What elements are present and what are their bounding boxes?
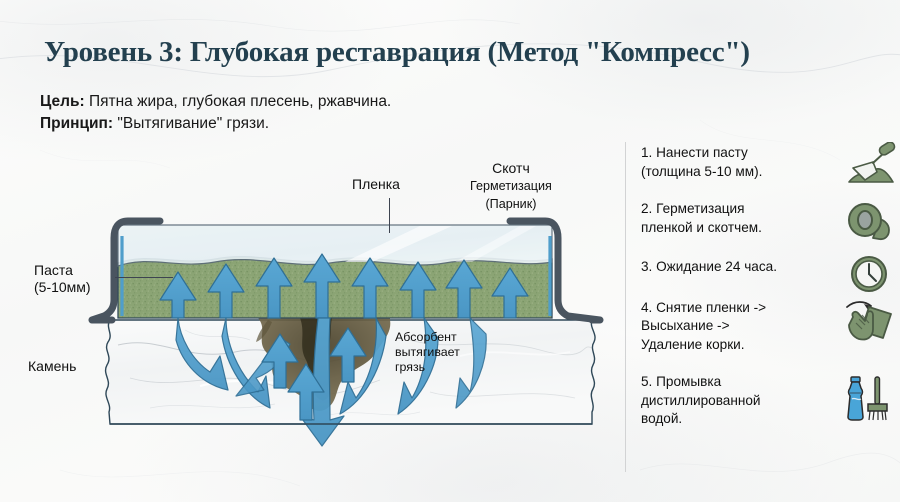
leader-line-film: [389, 198, 390, 233]
bottle-brush-icon: [843, 375, 899, 423]
label-tape-sub1: Герметизация: [470, 179, 552, 193]
step-2-text: 2. Герметизация пленкой и скотчем.: [641, 200, 826, 237]
tape-roll-icon: [843, 198, 899, 246]
compress-method-diagram: [0, 0, 640, 502]
step-1-text: 1. Нанести пасту (толщина 5-10 мм).: [641, 144, 826, 181]
label-paste: Паста (5-10мм): [34, 262, 91, 296]
step-item-3: 3. Ожидание 24 часа.: [641, 258, 891, 277]
label-paste-main: Паста: [34, 262, 73, 278]
label-tape-sub2: (Парник): [485, 197, 536, 211]
step-5-text: 5. Промывка дистиллированной водой.: [641, 373, 826, 429]
label-tape: Скотч Герметизация (Парник): [470, 160, 552, 213]
step-item-5: 5. Промывка дистиллированной водой.: [641, 373, 891, 429]
panel-divider: [625, 142, 626, 472]
label-absorbent-line2: вытягивает: [395, 345, 460, 359]
step-item-1: 1. Нанести пасту (толщина 5-10 мм).: [641, 144, 891, 181]
label-absorbent-line1: Абсорбент: [395, 330, 457, 344]
trowel-paste-icon: [843, 142, 899, 190]
label-paste-sub: (5-10мм): [34, 279, 91, 295]
hand-peel-icon: [843, 297, 899, 345]
water-bottle-icon: [848, 377, 863, 420]
step-3-text: 3. Ожидание 24 часа.: [641, 258, 826, 277]
label-film: Пленка: [352, 176, 400, 193]
step-item-2: 2. Герметизация пленкой и скотчем.: [641, 200, 891, 237]
label-absorbent-line3: грязь: [395, 360, 425, 374]
film-layer: [118, 225, 552, 266]
clock-icon: [843, 248, 899, 296]
steps-panel: 1. Нанести пасту (толщина 5-10 мм). 2. Г…: [641, 144, 891, 441]
step-4-text: 4. Снятие пленки -> Высыхание -> Удалени…: [641, 299, 826, 355]
label-tape-main: Скотч: [492, 160, 530, 176]
label-stone: Камень: [28, 358, 76, 375]
scrub-brush-icon: [868, 377, 887, 420]
label-absorbent: Абсорбент вытягивает грязь: [395, 330, 460, 375]
step-item-4: 4. Снятие пленки -> Высыхание -> Удалени…: [641, 299, 891, 355]
leader-line-paste: [115, 277, 173, 278]
